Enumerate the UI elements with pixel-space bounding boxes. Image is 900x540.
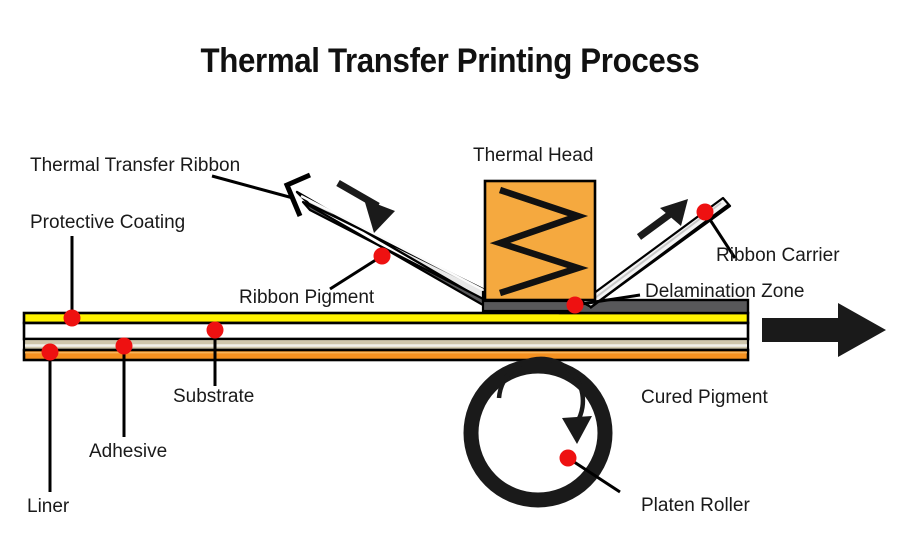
label-cured-pigment: Cured Pigment: [641, 388, 768, 407]
ribbon-in-arrow-icon: [338, 183, 395, 233]
ribbon-carrier-marker: [697, 204, 714, 221]
label-liner: Liner: [27, 497, 69, 516]
label-protective-coating: Protective Coating: [30, 213, 185, 232]
platen-rotation-arrowhead: [562, 416, 592, 444]
label-thermal-head: Thermal Head: [473, 146, 593, 165]
leader-thermal-transfer-ribbon: [212, 176, 293, 198]
leader-ribbon-pigment: [330, 256, 382, 289]
substrate-layer: [24, 323, 748, 339]
ribbon-carrier-highlight-in: [301, 196, 491, 294]
web-feed-arrow-icon: [762, 303, 886, 357]
substrate-marker: [207, 322, 224, 339]
adhesive-marker: [116, 338, 133, 355]
protective-coating-layer: [24, 313, 748, 323]
thermal-transfer-diagram: Thermal Transfer Printing Process: [0, 0, 900, 540]
ribbon-end-bracket: [287, 175, 310, 216]
label-substrate: Substrate: [173, 387, 254, 406]
platen-roller-marker: [560, 450, 577, 467]
delamination-zone-marker: [567, 297, 584, 314]
substrate-web-stack: [24, 300, 748, 360]
protective-coating-marker: [64, 310, 81, 327]
liner-marker: [42, 344, 59, 361]
label-thermal-transfer-ribbon: Thermal Transfer Ribbon: [30, 156, 240, 175]
label-adhesive: Adhesive: [89, 442, 167, 461]
liner-layer: [24, 350, 748, 360]
label-platen-roller: Platen Roller: [641, 496, 750, 515]
thermal-head: [485, 181, 595, 300]
platen-roller-ring: [471, 366, 605, 500]
label-ribbon-carrier: Ribbon Carrier: [716, 246, 840, 265]
platen-roller: [471, 359, 605, 500]
label-ribbon-pigment: Ribbon Pigment: [239, 288, 374, 307]
label-delamination-zone: Delamination Zone: [645, 282, 804, 301]
ribbon-pigment-marker: [374, 248, 391, 265]
